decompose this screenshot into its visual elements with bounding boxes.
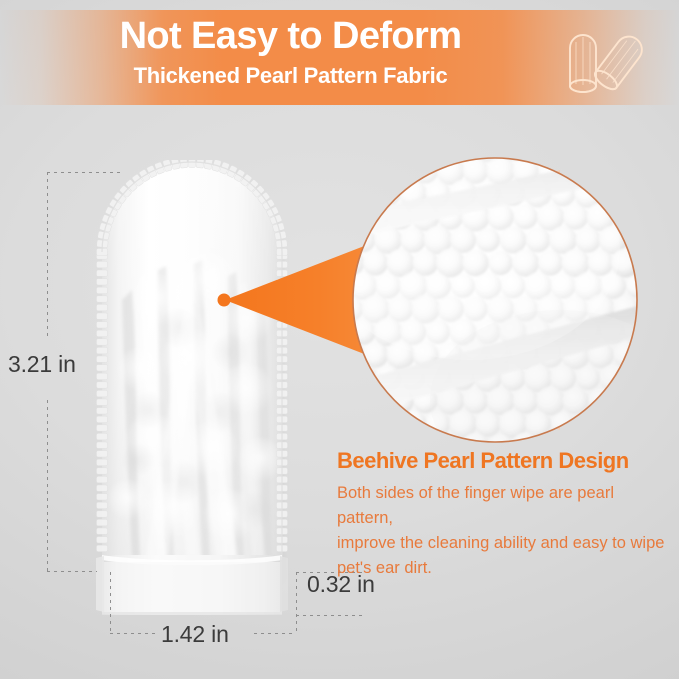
product-image	[88, 160, 296, 615]
width-dimension-line-right	[254, 633, 296, 634]
description-heading: Beehive Pearl Pattern Design	[337, 447, 673, 475]
finger-wipe-illustration	[88, 160, 296, 615]
width-dimension-line-left	[110, 633, 158, 634]
height-dimension-tick-bottom	[47, 571, 97, 572]
description-block: Beehive Pearl Pattern Design Both sides …	[337, 447, 673, 581]
width-dimension-label: 1.42 in	[161, 621, 229, 648]
depth-dimension-line-bottom	[296, 615, 364, 616]
width-dimension-tick-left	[110, 572, 111, 634]
description-body: Both sides of the finger wipe are pearl …	[337, 481, 673, 581]
header-banner: Not Easy to Deform Thickened Pearl Patte…	[0, 10, 679, 105]
height-dimension-label: 3.21 in	[8, 351, 76, 378]
height-dimension-tick-top	[47, 172, 123, 173]
two-finger-wipes-icon	[556, 26, 656, 100]
height-dimension-line-upper	[47, 172, 48, 340]
header-banner-content: Not Easy to Deform Thickened Pearl Patte…	[0, 10, 679, 105]
width-dimension-tick-right	[296, 572, 297, 634]
height-dimension-line-lower	[47, 400, 48, 572]
infographic-canvas: Not Easy to Deform Thickened Pearl Patte…	[0, 0, 679, 679]
magnifier-circle-outline	[353, 158, 637, 442]
